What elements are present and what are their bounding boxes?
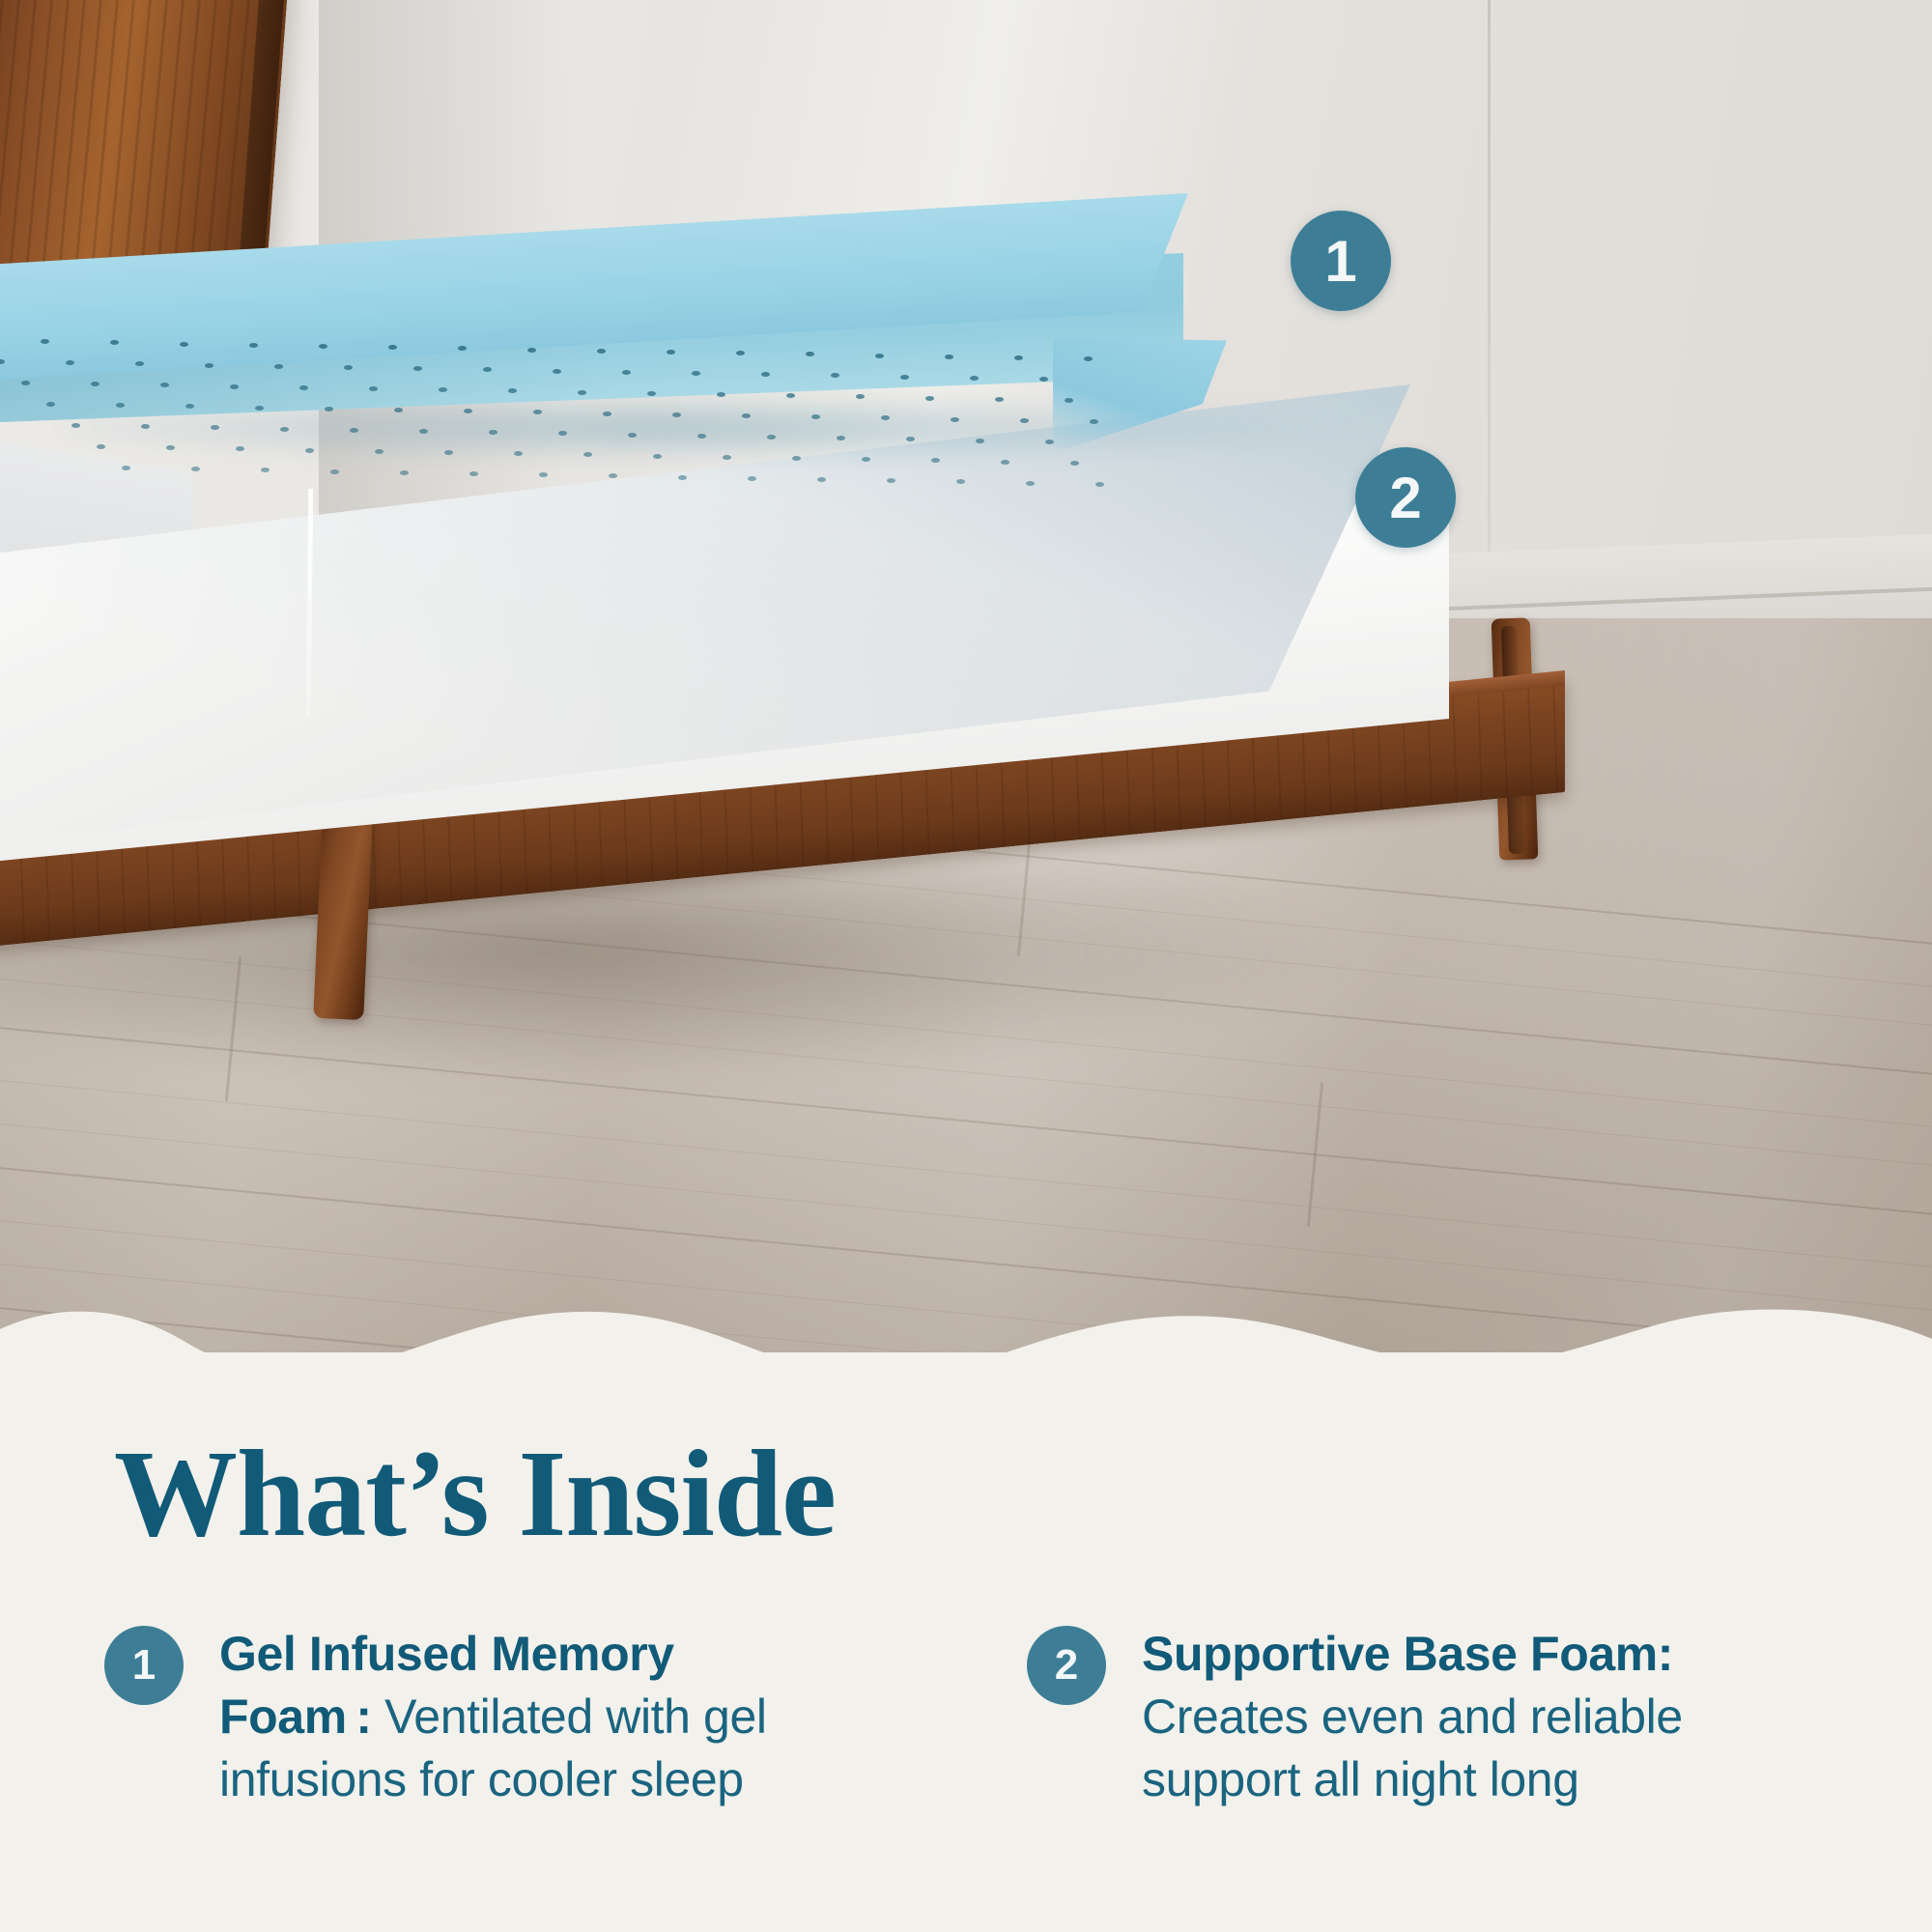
ventilation-hole xyxy=(697,434,706,439)
ventilation-hole xyxy=(249,343,258,348)
ventilation-hole xyxy=(647,391,656,396)
page-title: What’s Inside xyxy=(114,1432,836,1555)
ventilation-hole xyxy=(230,384,239,389)
product-photo: 1 2 xyxy=(0,0,1932,1381)
ventilation-hole xyxy=(931,458,940,463)
layer-title-2: Supportive Base Foam: xyxy=(1142,1627,1673,1681)
ventilation-hole xyxy=(678,475,687,480)
ventilation-hole xyxy=(811,414,820,419)
ventilation-hole xyxy=(469,471,478,476)
photo-callout-badge-2[interactable]: 2 xyxy=(1355,447,1456,548)
ventilation-hole xyxy=(945,355,953,359)
ventilation-hole xyxy=(527,348,536,353)
ventilation-hole xyxy=(583,452,592,457)
ventilation-hole xyxy=(748,476,756,481)
ventilation-hole xyxy=(1014,355,1023,360)
ventilation-hole xyxy=(995,397,1004,402)
ventilation-hole xyxy=(514,451,523,456)
ventilation-hole xyxy=(862,457,870,462)
infographic-root: 1 2 What’s Inside 1 Gel Infused Memory F… xyxy=(0,0,1932,1932)
layer-number-badge-1[interactable]: 1 xyxy=(104,1626,184,1705)
ventilation-hole xyxy=(1095,482,1104,487)
layer-item-2: 2 Supportive Base Foam: Creates even and… xyxy=(1027,1623,1838,1811)
ventilation-hole xyxy=(786,393,795,398)
ventilation-hole xyxy=(1045,440,1054,444)
ventilation-hole xyxy=(444,450,453,455)
ventilation-hole xyxy=(319,344,327,349)
ventilation-hole xyxy=(628,433,637,438)
ventilation-hole xyxy=(723,455,731,460)
ventilation-hole xyxy=(274,364,283,369)
layer-description-1: Gel Infused Memory Foam : Ventilated wit… xyxy=(219,1623,838,1811)
ventilation-hole xyxy=(558,431,567,436)
ventilation-hole xyxy=(369,386,378,391)
ventilation-hole xyxy=(533,410,542,414)
ventilation-hole xyxy=(887,478,895,483)
ventilation-hole xyxy=(141,424,150,429)
ventilation-hole xyxy=(603,412,611,416)
ventilation-hole xyxy=(21,381,30,385)
ventilation-hole xyxy=(717,392,725,397)
ventilation-hole xyxy=(191,467,200,471)
layer-body-2: Creates even and reliable support all ni… xyxy=(1142,1690,1683,1806)
ventilation-hole xyxy=(1026,481,1035,486)
ventilation-hole xyxy=(350,428,358,433)
ventilation-hole xyxy=(622,370,631,375)
ventilation-hole xyxy=(881,415,890,420)
layer-description-2: Supportive Base Foam: Creates even and r… xyxy=(1142,1623,1779,1811)
ventilation-hole xyxy=(305,448,314,453)
ventilation-hole xyxy=(951,417,959,422)
ventilation-hole xyxy=(1070,461,1079,466)
ventilation-hole xyxy=(742,413,751,418)
ventilation-hole xyxy=(672,412,681,417)
ventilation-hole xyxy=(692,371,700,376)
ventilation-hole xyxy=(1020,418,1029,423)
ventilation-hole xyxy=(180,342,188,347)
ventilation-hole xyxy=(330,469,339,474)
ventilation-hole xyxy=(166,445,175,450)
ventilation-hole xyxy=(325,407,333,412)
layer-item-1: 1 Gel Infused Memory Foam : Ventilated w… xyxy=(104,1623,906,1811)
ventilation-hole xyxy=(767,435,776,440)
ventilation-hole xyxy=(837,436,845,440)
ventilation-hole xyxy=(792,456,801,461)
ventilation-hole xyxy=(553,369,561,374)
ventilation-hole xyxy=(906,437,915,441)
ventilation-hole xyxy=(597,349,606,354)
ventilation-hole xyxy=(46,402,55,407)
ventilation-hole xyxy=(236,446,244,451)
ventilation-hole xyxy=(925,396,934,401)
ventilation-hole xyxy=(211,425,219,430)
ventilation-hole xyxy=(71,423,80,428)
ventilation-hole xyxy=(344,365,353,370)
ventilation-hole xyxy=(97,444,105,449)
ventilation-hole xyxy=(856,394,865,399)
ventilation-hole xyxy=(489,430,497,435)
ventilation-hole xyxy=(299,385,308,390)
ventilation-hole xyxy=(956,479,965,484)
ventilation-hole xyxy=(261,468,270,472)
ventilation-hole xyxy=(280,427,289,432)
ventilation-hole xyxy=(609,473,617,478)
ventilation-hole xyxy=(875,354,884,358)
ventilation-hole xyxy=(817,477,826,482)
ventilation-hole xyxy=(255,406,264,411)
ventilation-hole xyxy=(1039,377,1048,382)
gel-foam-layer xyxy=(0,145,1575,493)
ventilation-hole xyxy=(394,408,403,412)
ventilation-hole xyxy=(419,429,428,434)
ventilation-hole xyxy=(653,454,662,459)
ventilation-hole xyxy=(1090,419,1098,424)
ventilation-hole xyxy=(1065,398,1073,403)
ventilation-hole xyxy=(205,363,213,368)
ventilation-hole xyxy=(122,466,130,470)
ventilation-hole xyxy=(578,390,586,395)
ventilation-hole xyxy=(400,470,409,475)
ventilation-hole xyxy=(375,449,384,454)
ventilation-hole xyxy=(976,439,984,443)
layer-number-badge-2[interactable]: 2 xyxy=(1027,1626,1106,1705)
ventilation-hole xyxy=(970,376,979,381)
photo-callout-badge-1[interactable]: 1 xyxy=(1291,211,1391,311)
ventilation-hole xyxy=(464,409,472,413)
layer-list: 1 Gel Infused Memory Foam : Ventilated w… xyxy=(0,1623,1932,1913)
gel-foam-right-tip xyxy=(1053,331,1227,453)
ventilation-hole xyxy=(900,375,909,380)
ventilation-hole xyxy=(539,472,548,477)
ventilation-hole xyxy=(1001,460,1009,465)
ventilation-hole xyxy=(667,350,675,355)
